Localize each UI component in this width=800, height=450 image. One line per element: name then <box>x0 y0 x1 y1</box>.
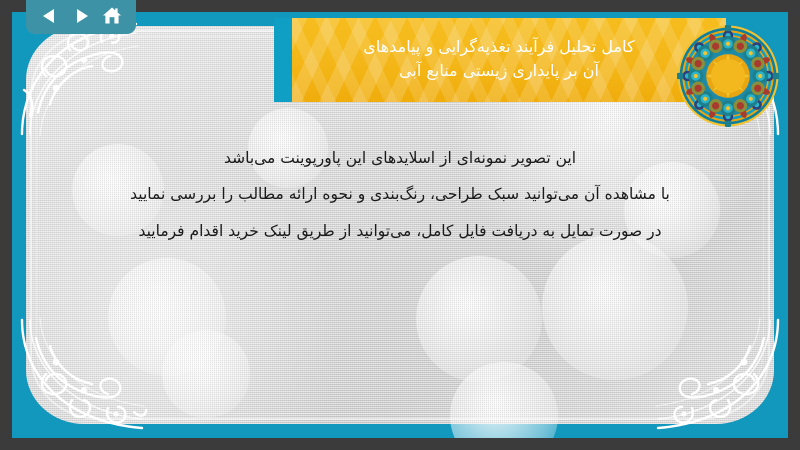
navigation-bar <box>26 0 136 34</box>
banner-left-cap <box>274 18 292 102</box>
body-line-1: این تصویر نمونه‌ای از اسلایدهای این پاور… <box>72 140 728 176</box>
slide-canvas: کامل تحلیل فرآیند تغذیه‌گرایی و پیامدهای… <box>12 12 788 438</box>
persian-mandala-medallion <box>676 24 780 128</box>
body-line-3: در صورت تمایل به دریافت فایل کامل، می‌تو… <box>72 213 728 249</box>
slide-title-line-2: آن بر پایداری زیستی منابع آبی <box>399 59 599 83</box>
slide-body-text: این تصویر نمونه‌ای از اسلایدهای این پاور… <box>72 140 728 249</box>
back-icon <box>40 6 60 26</box>
slide-viewer: کامل تحلیل فرآیند تغذیه‌گرایی و پیامدهای… <box>0 0 800 450</box>
banner-body: کامل تحلیل فرآیند تغذیه‌گرایی و پیامدهای… <box>292 18 726 102</box>
forward-icon <box>71 6 91 26</box>
body-line-2: با مشاهده آن می‌توانید سبک طراحی، رنگ‌بن… <box>72 176 728 212</box>
slide-title-banner: کامل تحلیل فرآیند تغذیه‌گرایی و پیامدهای… <box>274 18 726 102</box>
slide-title-line-1: کامل تحلیل فرآیند تغذیه‌گرایی و پیامدهای <box>363 35 634 59</box>
home-button[interactable] <box>99 3 125 29</box>
forward-button[interactable] <box>68 3 94 29</box>
home-icon <box>101 5 123 27</box>
back-button[interactable] <box>37 3 63 29</box>
